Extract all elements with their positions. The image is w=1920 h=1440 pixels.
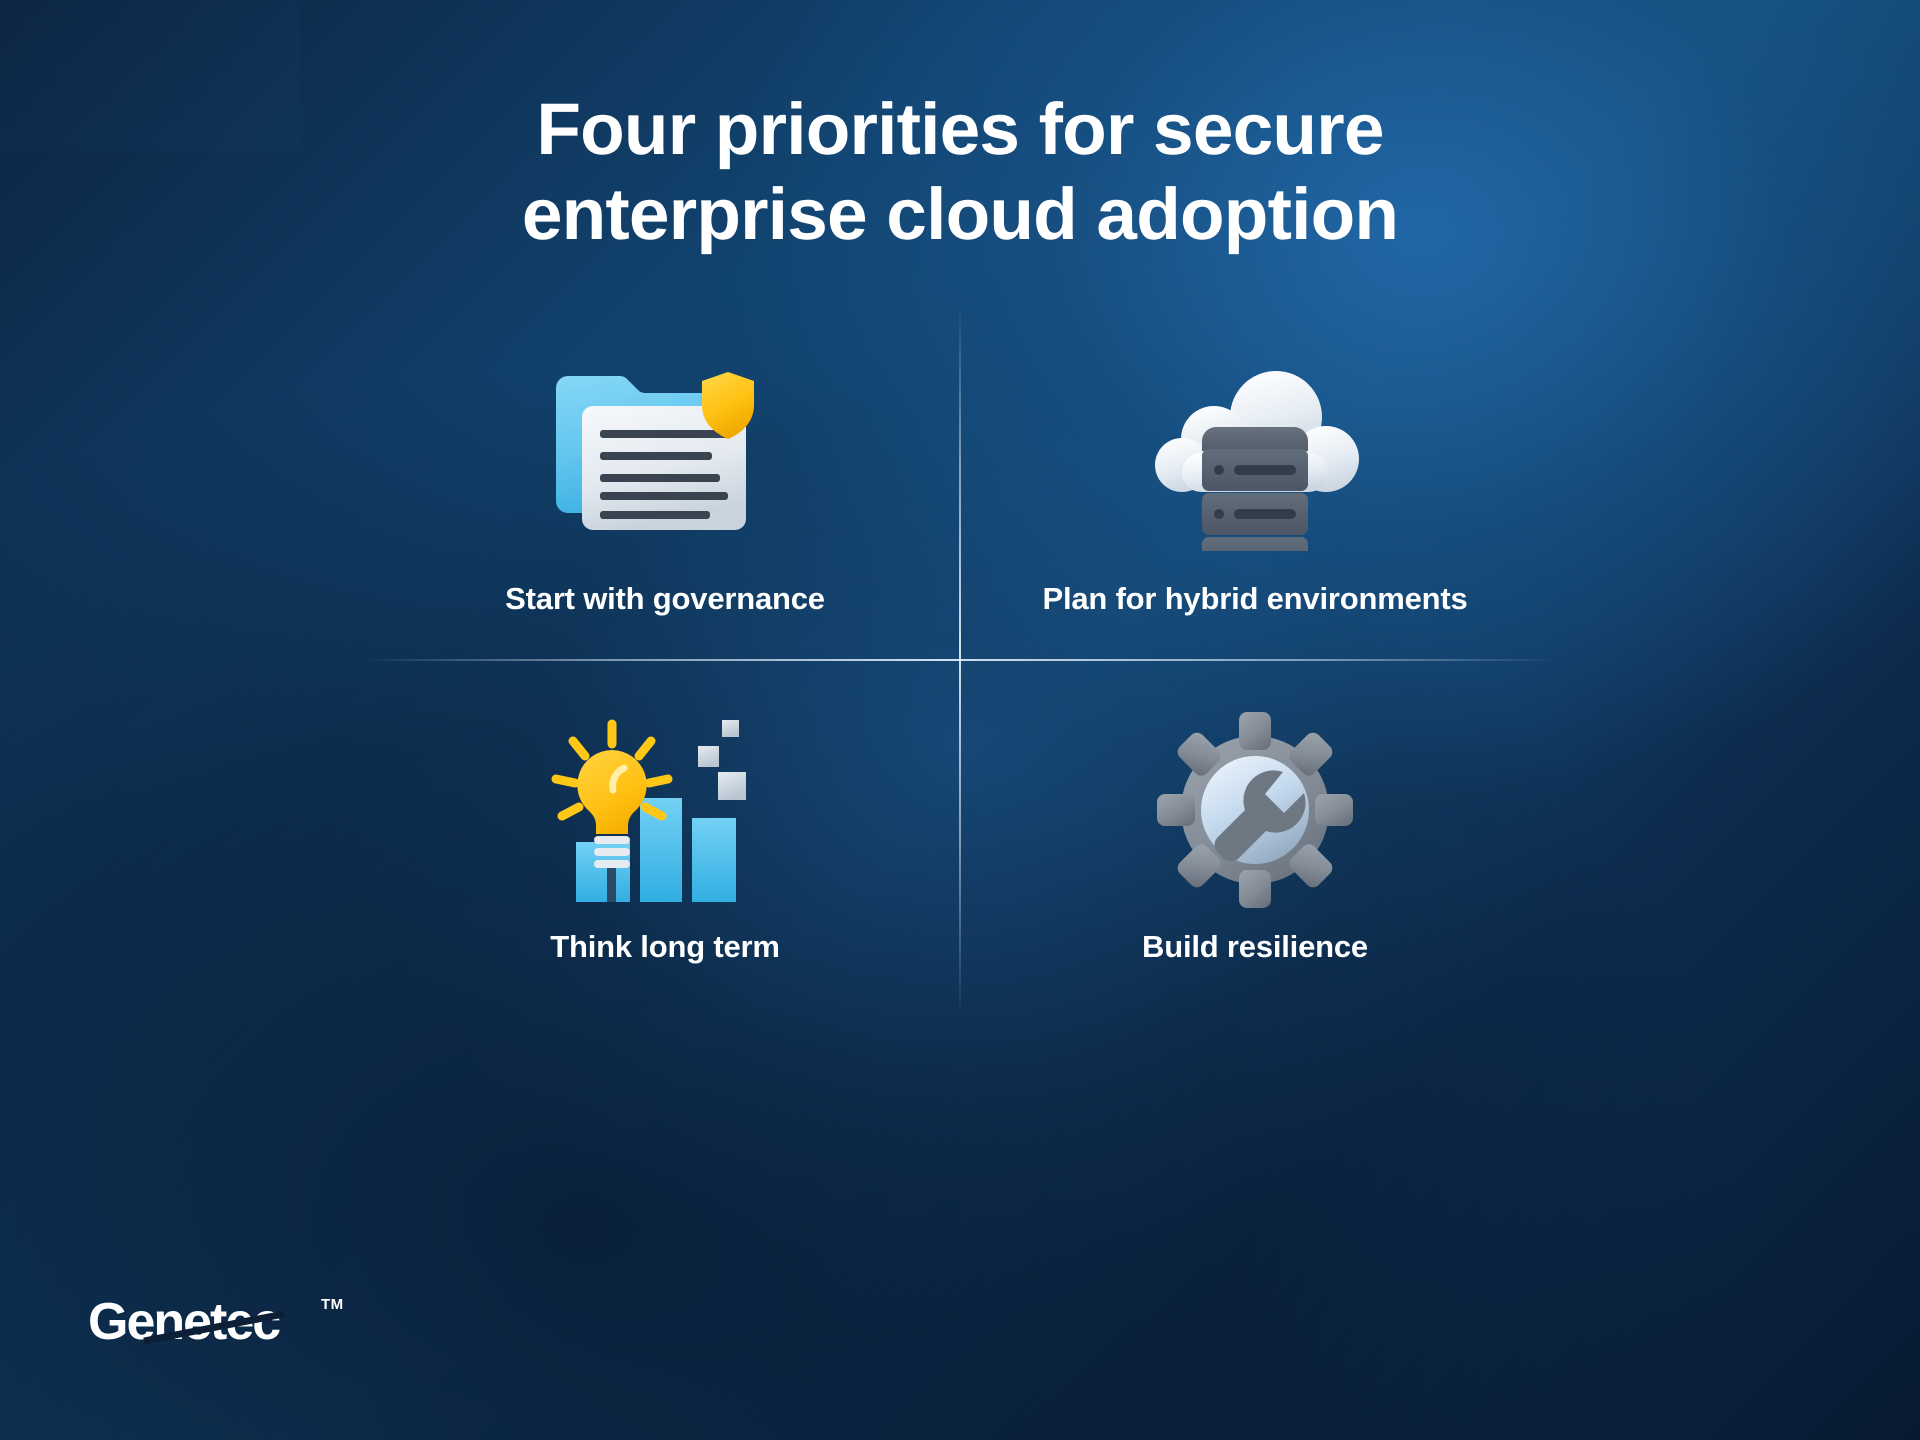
- quadrant-label-hybrid: Plan for hybrid environments: [1042, 581, 1467, 617]
- quadrant-label-resilience: Build resilience: [1142, 929, 1368, 965]
- quadrant-label-long-term: Think long term: [550, 929, 780, 965]
- quadrant-resilience[interactable]: Build resilience: [960, 660, 1550, 1010]
- icon-container: [550, 702, 780, 917]
- square-large-icon: [718, 772, 746, 800]
- folder-document-shield-icon: [550, 366, 780, 546]
- quadrant-long-term[interactable]: Think long term: [370, 660, 960, 1010]
- icon-container: [1155, 702, 1355, 917]
- title-line-2: enterprise cloud adoption: [0, 173, 1920, 258]
- quadrant-label-governance: Start with governance: [505, 581, 825, 617]
- genetec-logo[interactable]: Genetec TM: [88, 1294, 344, 1352]
- cloud-server-icon: [1140, 361, 1370, 551]
- slide-canvas: Four priorities for secure enterprise cl…: [0, 0, 1920, 1440]
- priorities-grid: Start with governance: [370, 310, 1550, 1010]
- icon-container: [550, 348, 780, 563]
- gear-wrench-icon: [1155, 710, 1355, 910]
- trademark-symbol: TM: [321, 1296, 344, 1313]
- lightbulb-bar-chart-icon: [550, 710, 780, 910]
- quadrant-governance[interactable]: Start with governance: [370, 310, 960, 660]
- icon-container: [1140, 348, 1370, 563]
- square-small-icon: [722, 720, 739, 737]
- title-line-1: Four priorities for secure: [536, 89, 1383, 170]
- square-medium-icon: [698, 746, 719, 767]
- page-title: Four priorities for secure enterprise cl…: [0, 88, 1920, 257]
- quadrant-hybrid[interactable]: Plan for hybrid environments: [960, 310, 1550, 660]
- bar-3: [692, 818, 736, 902]
- genetec-wordmark-icon: Genetec: [88, 1294, 318, 1352]
